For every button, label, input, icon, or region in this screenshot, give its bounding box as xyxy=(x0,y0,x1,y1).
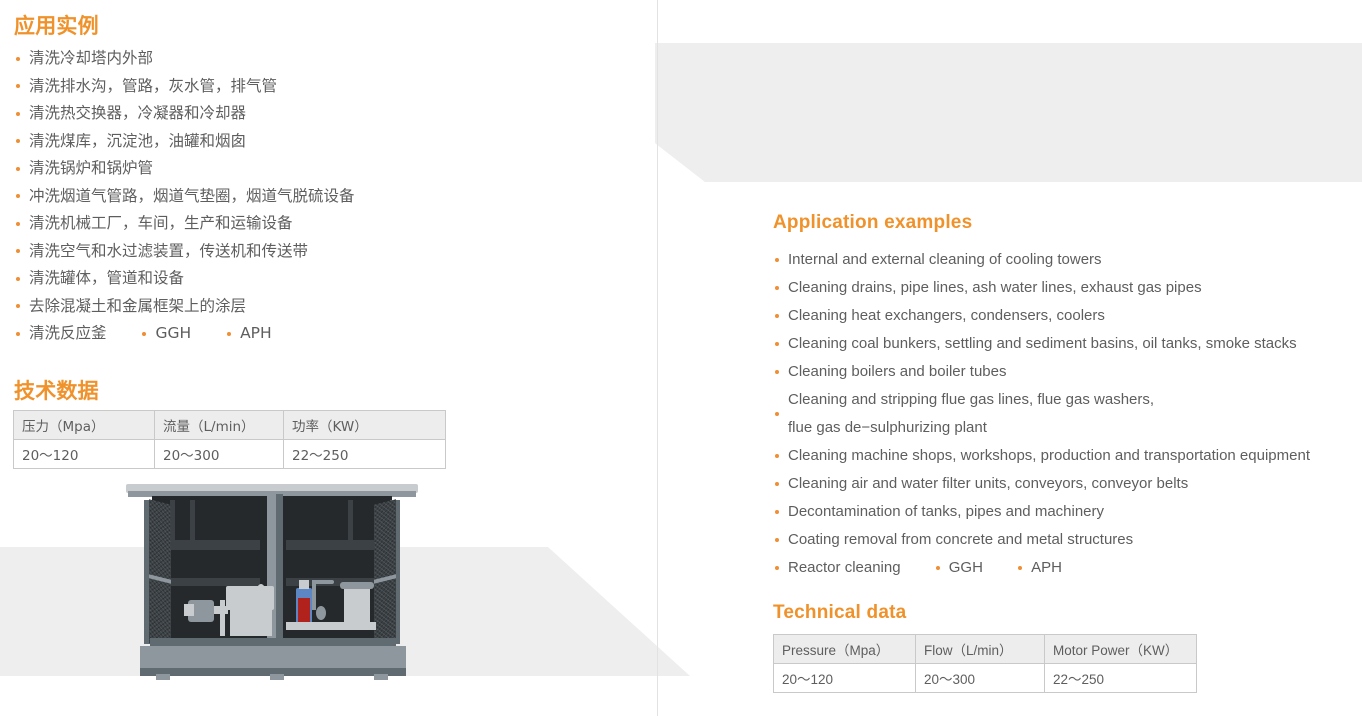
list-item: 清洗空气和水过滤装置，传送机和传送带 xyxy=(14,238,634,266)
list-item-line2: flue gas de−sulphurizing plant xyxy=(788,414,1362,442)
list-item: 清洗锅炉和锅炉管 xyxy=(14,155,634,183)
list-item: Cleaning coal bunkers, settling and sedi… xyxy=(773,330,1362,358)
list-item: 去除混凝土和金属框架上的涂层 xyxy=(14,293,634,321)
list-item: Cleaning machine shops, workshops, produ… xyxy=(773,442,1362,470)
table-row: 20～120 20～300 22～250 xyxy=(14,440,446,469)
application-list-en: Internal and external cleaning of coolin… xyxy=(773,246,1362,582)
list-item: Cleaning heat exchangers, condensers, co… xyxy=(773,302,1362,330)
table-cell-pressure: 20～120 xyxy=(14,440,155,469)
list-item-last: Reactor cleaning GGH APH xyxy=(773,554,1362,582)
list-item-label: 清洗反应釜 xyxy=(29,324,107,342)
technical-data-table-en: Pressure（Mpa） Flow（L/min） Motor Power（KW… xyxy=(773,634,1197,693)
table-cell-motor-power: 22～250 xyxy=(1045,664,1197,693)
list-item: 清洗罐体，管道和设备 xyxy=(14,265,634,293)
list-item: 清洗冷却塔内外部 xyxy=(14,45,634,73)
list-item: 清洗热交换器，冷凝器和冷却器 xyxy=(14,100,634,128)
list-item: 清洗机械工厂，车间，生产和运输设备 xyxy=(14,210,634,238)
list-item-ggh: GGH xyxy=(141,320,191,348)
table-cell-flow: 20～300 xyxy=(155,440,284,469)
table-header-row: 压力（Mpa） 流量（L/min） 功率（KW） xyxy=(14,411,446,440)
list-item: Coating removal from concrete and metal … xyxy=(773,526,1362,554)
list-item-label: Reactor cleaning xyxy=(788,559,901,576)
list-item-aph: APH xyxy=(1017,554,1062,582)
application-list-cn: 清洗冷却塔内外部 清洗排水沟，管路，灰水管，排气管 清洗热交换器，冷凝器和冷却器… xyxy=(14,45,634,348)
list-item: 清洗排水沟，管路，灰水管，排气管 xyxy=(14,73,634,101)
list-item: Cleaning drains, pipe lines, ash water l… xyxy=(773,274,1362,302)
table-header-power: 功率（KW） xyxy=(284,411,446,440)
list-item: Internal and external cleaning of coolin… xyxy=(773,246,1362,274)
list-item: Cleaning air and water filter units, con… xyxy=(773,470,1362,498)
table-header-flow: Flow（L/min） xyxy=(916,635,1045,664)
product-photo-cabinet-unit xyxy=(118,482,426,700)
table-cell-flow: 20～300 xyxy=(916,664,1045,693)
page-title-technical-cn: 技术数据 xyxy=(14,375,99,405)
left-column: 应用实例 清洗冷却塔内外部 清洗排水沟，管路，灰水管，排气管 清洗热交换器，冷凝… xyxy=(0,0,655,716)
list-item: Cleaning boilers and boiler tubes xyxy=(773,358,1362,386)
table-row: 20～120 20～300 22～250 xyxy=(774,664,1197,693)
table-cell-power: 22～250 xyxy=(284,440,446,469)
table-header-pressure: 压力（Mpa） xyxy=(14,411,155,440)
list-item-wrapped: Cleaning and stripping flue gas lines, f… xyxy=(773,386,1362,442)
list-item: 冲洗烟道气管路，烟道气垫圈，烟道气脱硫设备 xyxy=(14,183,634,211)
table-header-pressure: Pressure（Mpa） xyxy=(774,635,916,664)
page-title-applications-en: Application examples xyxy=(773,212,972,234)
page-title-applications-cn: 应用实例 xyxy=(14,10,99,40)
table-cell-pressure: 20～120 xyxy=(774,664,916,693)
table-header-motor-power: Motor Power（KW） xyxy=(1045,635,1197,664)
list-item-last: 清洗反应釜 GGH APH xyxy=(14,320,634,348)
table-header-row: Pressure（Mpa） Flow（L/min） Motor Power（KW… xyxy=(774,635,1197,664)
page-title-technical-en: Technical data xyxy=(773,602,906,624)
list-item: 清洗煤库，沉淀池，油罐和烟囱 xyxy=(14,128,634,156)
right-column: Application examples Internal and extern… xyxy=(658,0,1362,716)
list-item-aph: APH xyxy=(226,320,272,348)
list-item-line1: Cleaning and stripping flue gas lines, f… xyxy=(788,391,1154,408)
technical-data-table-cn: 压力（Mpa） 流量（L/min） 功率（KW） 20～120 20～300 2… xyxy=(13,410,446,469)
list-item-ggh: GGH xyxy=(935,554,983,582)
table-header-flow: 流量（L/min） xyxy=(155,411,284,440)
list-item: Decontamination of tanks, pipes and mach… xyxy=(773,498,1362,526)
